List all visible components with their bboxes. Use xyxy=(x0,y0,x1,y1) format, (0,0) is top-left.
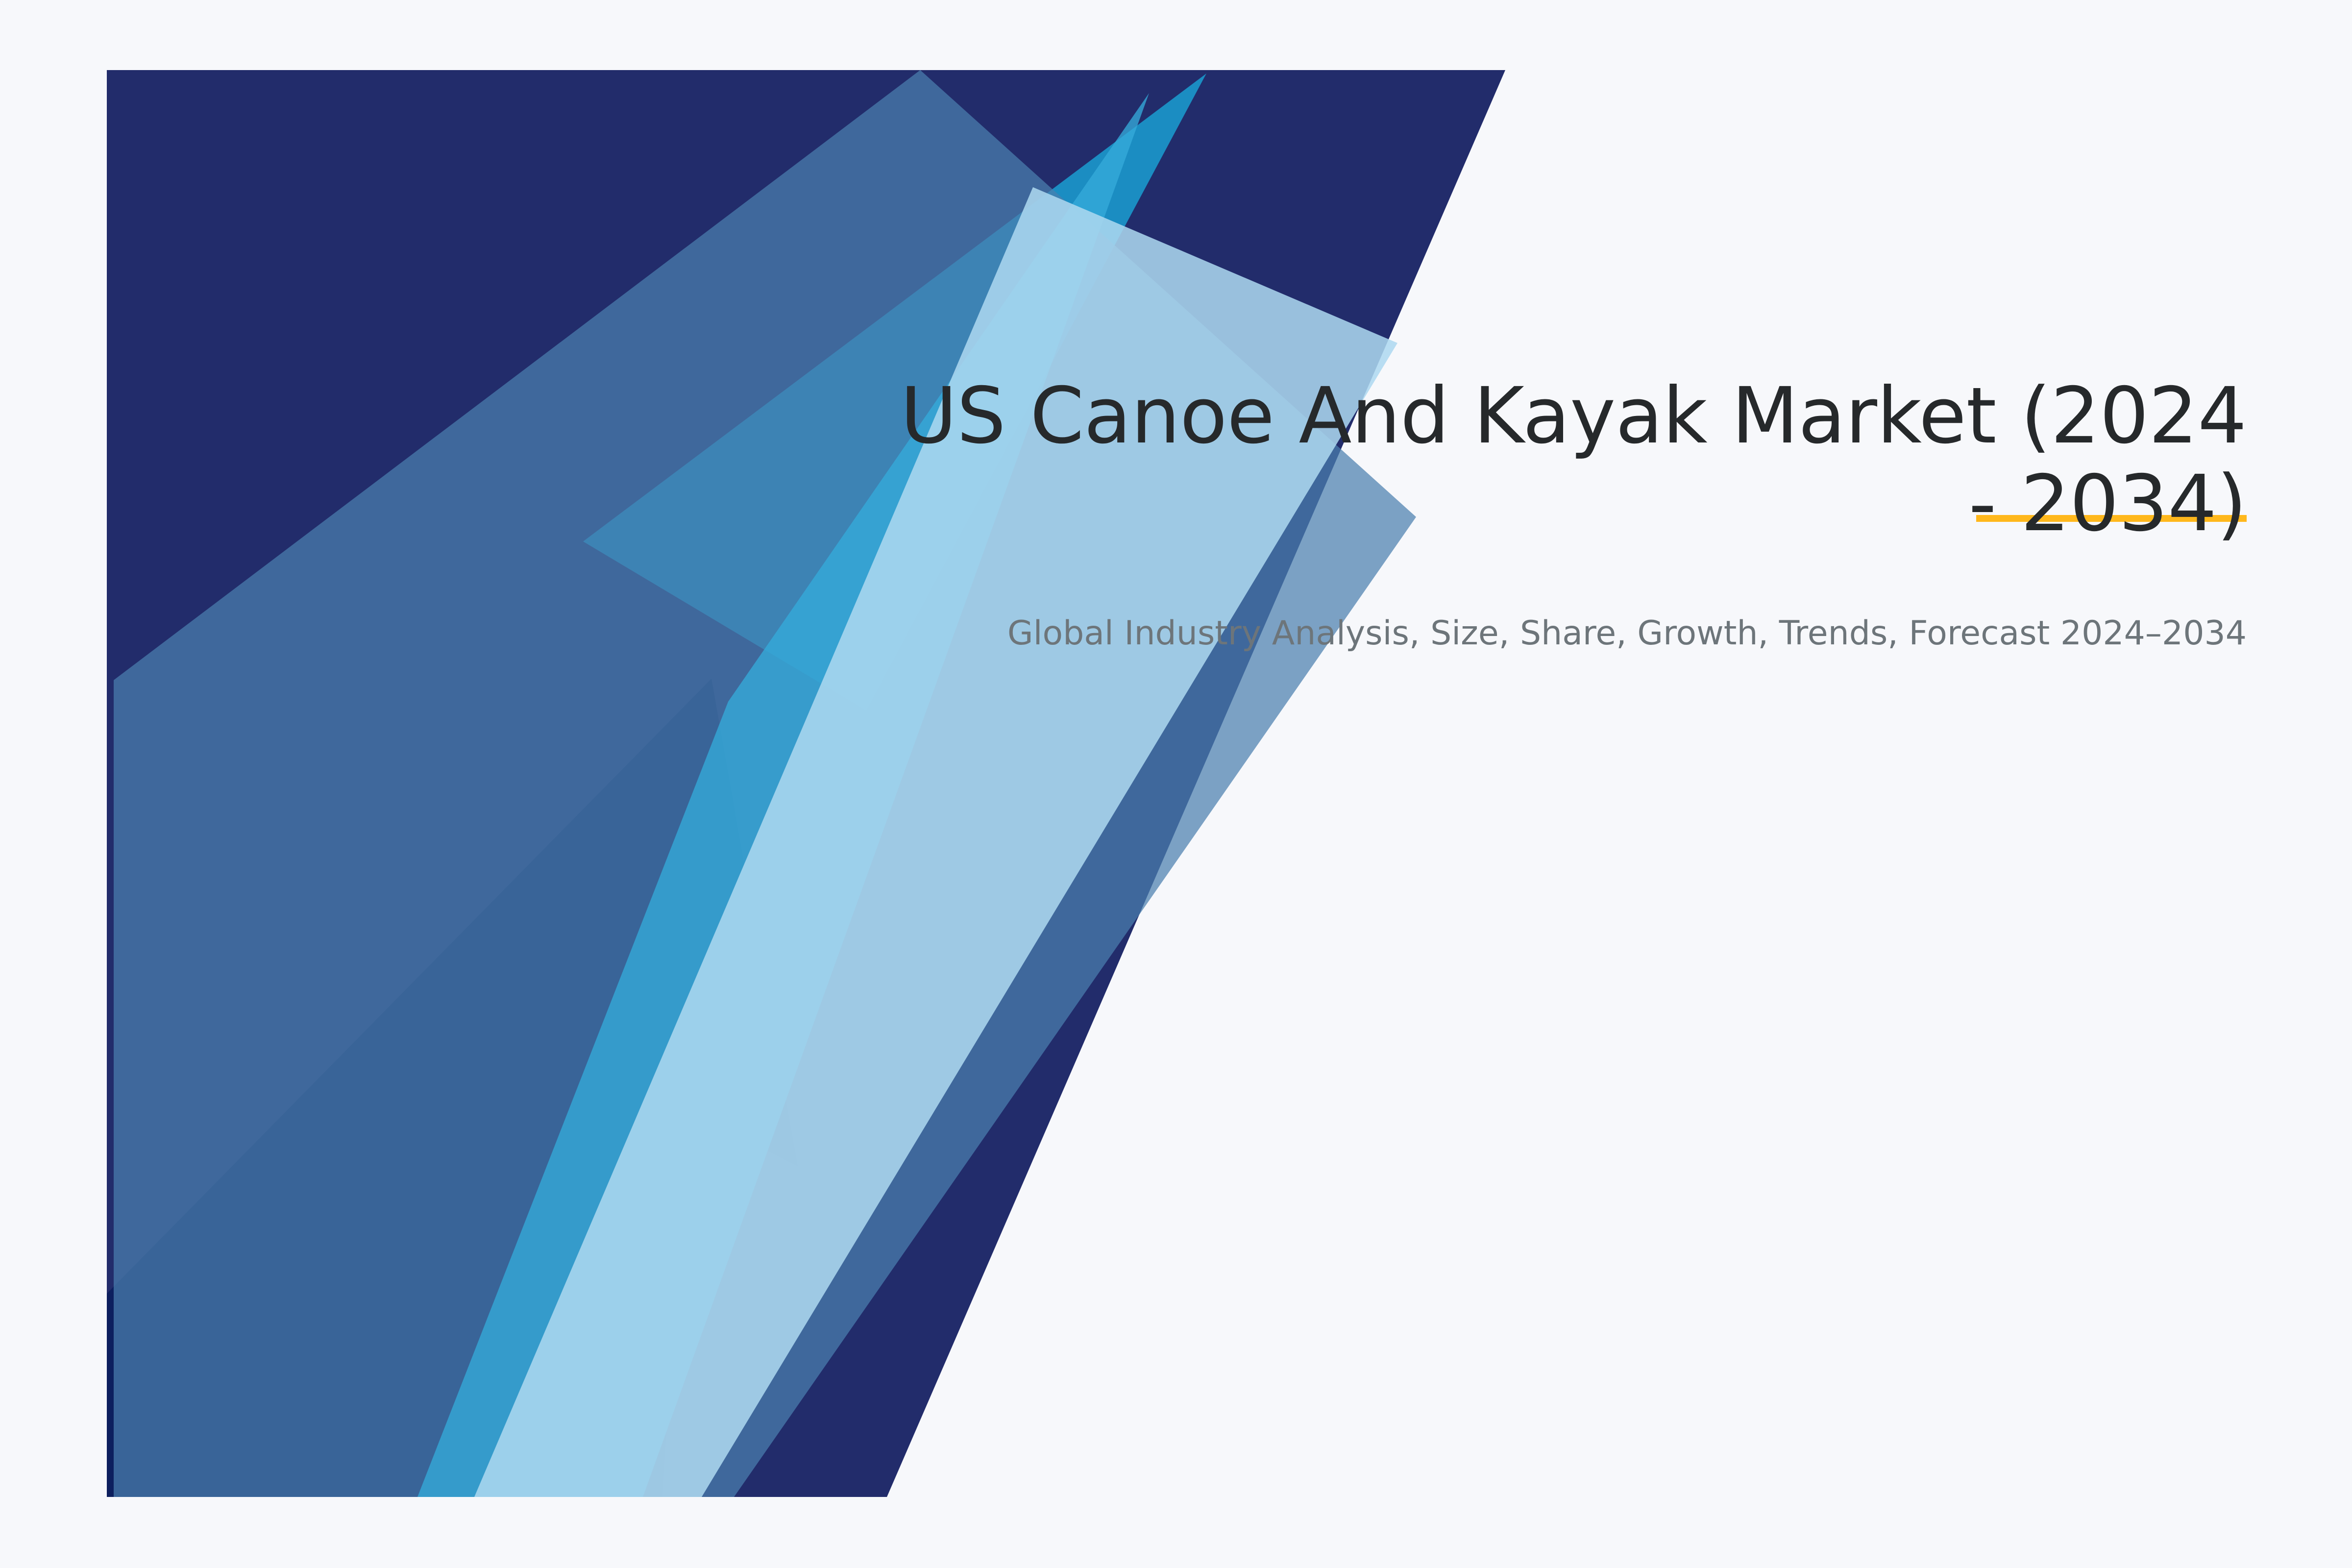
cover-text-column: US Canoe And Kayak Market (2024 - 2034) … xyxy=(875,372,2247,655)
abstract-geometric-banner xyxy=(0,0,2352,1568)
cover-slide: US Canoe And Kayak Market (2024 - 2034) … xyxy=(0,0,2352,1568)
page-title: US Canoe And Kayak Market (2024 - 2034) xyxy=(875,372,2247,547)
title-block: US Canoe And Kayak Market (2024 - 2034) xyxy=(875,372,2247,547)
page-subtitle: Global Industry Analysis, Size, Share, G… xyxy=(875,547,2247,655)
